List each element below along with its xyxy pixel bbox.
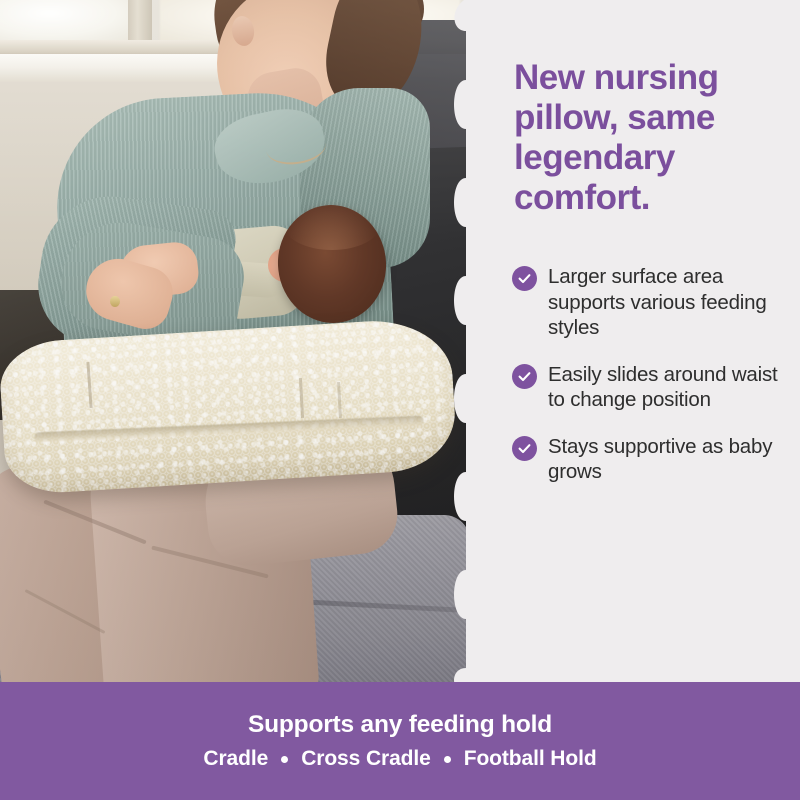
list-item: Larger surface area supports various fee… <box>512 264 784 341</box>
feeding-hold-football: Football Hold <box>464 747 597 771</box>
list-item: Easily slides around waist to change pos… <box>512 362 784 413</box>
feature-text: Larger surface area supports various fee… <box>548 264 784 341</box>
window-pane-left <box>0 0 134 42</box>
footer-banner: Supports any feeding hold Cradle Cross C… <box>0 682 800 800</box>
feeding-holds-list: Cradle Cross Cradle Football Hold <box>203 747 596 771</box>
product-banner: New nursing pillow, same legendary comfo… <box>0 0 800 800</box>
feature-text: Easily slides around waist to change pos… <box>548 362 784 413</box>
baby-hair <box>284 200 380 250</box>
check-circle-icon <box>512 364 537 389</box>
page-title: New nursing pillow, same legendary comfo… <box>514 58 782 218</box>
wedding-ring <box>110 296 120 307</box>
feeding-hold-cross-cradle: Cross Cradle <box>301 747 431 771</box>
check-circle-icon <box>512 266 537 291</box>
nursing-pillow-texture <box>0 316 458 495</box>
list-item: Stays supportive as baby grows <box>512 434 784 485</box>
check-circle-icon <box>512 436 537 461</box>
text-panel: New nursing pillow, same legendary comfo… <box>466 0 800 690</box>
product-photo <box>0 0 470 690</box>
bullet-separator-icon <box>281 756 288 763</box>
feature-text: Stays supportive as baby grows <box>548 434 784 485</box>
footer-title: Supports any feeding hold <box>248 711 552 739</box>
bullet-separator-icon <box>444 756 451 763</box>
feeding-hold-cradle: Cradle <box>203 747 268 771</box>
feature-list: Larger surface area supports various fee… <box>512 264 784 506</box>
